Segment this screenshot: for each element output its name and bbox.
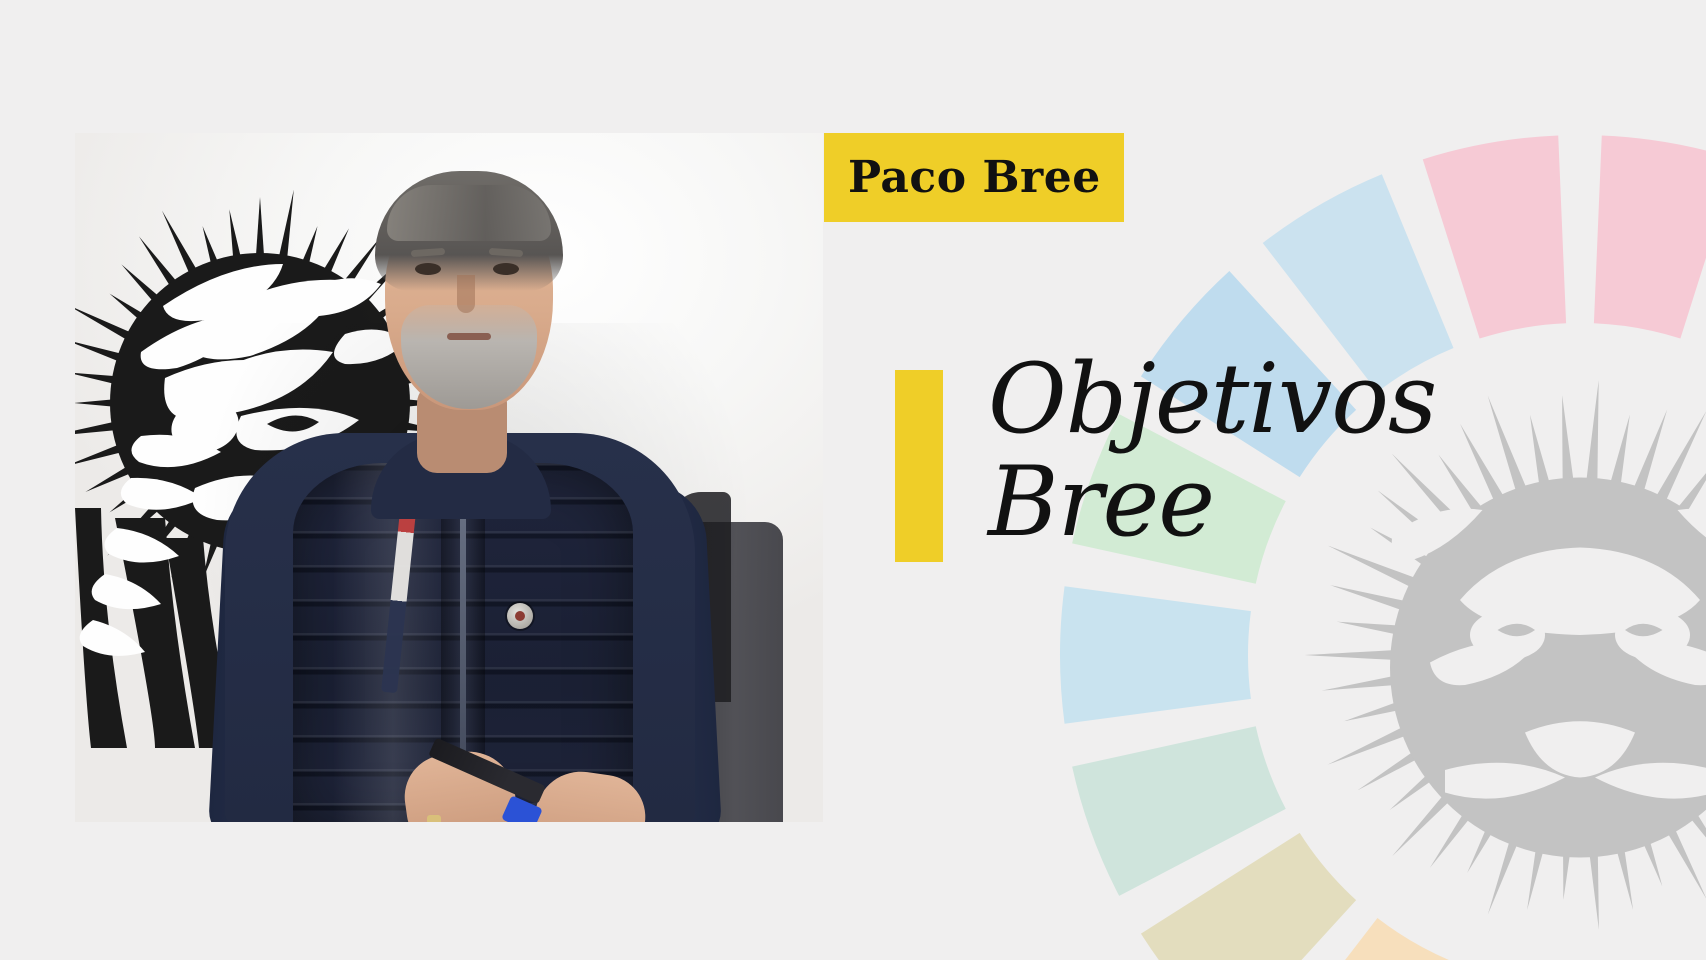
sdg-segment [1072, 726, 1286, 896]
sdg-segment [1423, 135, 1566, 338]
wedding-ring [427, 815, 441, 822]
speaker-name-label: Paco Bree [824, 152, 1101, 203]
person-figure [75, 133, 823, 822]
sdg-segment [1141, 833, 1356, 960]
title-accent-bar [895, 370, 943, 562]
nose [457, 275, 475, 313]
left-eye [415, 263, 441, 275]
mouth [447, 333, 491, 340]
sdg-segment [1263, 918, 1454, 960]
sdg-segment [1594, 135, 1706, 338]
speaker-name-banner: Paco Bree [824, 133, 1124, 222]
speaker-photo [75, 133, 823, 822]
sdg-segment [1060, 586, 1251, 724]
vest-badge [507, 603, 533, 629]
page-title-line-1: Objetivos [988, 343, 1436, 455]
page-title: Objetivos Bree [988, 348, 1628, 553]
slide-canvas: Paco Bree Objetivos Bree [0, 0, 1706, 960]
hair [375, 171, 563, 291]
right-eye [493, 263, 519, 275]
page-title-line-2: Bree [988, 451, 1628, 554]
